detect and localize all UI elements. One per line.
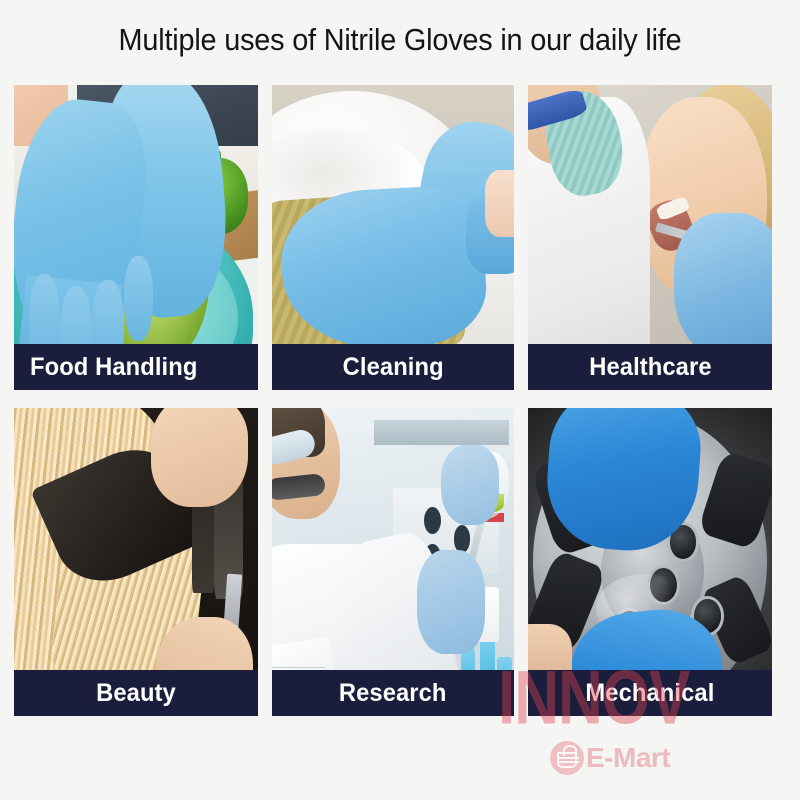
use-case-card-food-handling[interactable]: Food Handling	[14, 85, 258, 390]
card-label-research: Research	[339, 679, 447, 708]
page-title: Multiple uses of Nitrile Gloves in our d…	[28, 22, 772, 58]
use-case-card-healthcare[interactable]: Healthcare	[528, 85, 772, 390]
watermark-logo: E-Mart	[550, 741, 670, 775]
card-label-bar-food-handling: Food Handling	[14, 344, 258, 390]
use-case-card-beauty[interactable]: Beauty	[14, 408, 258, 716]
shopping-basket-icon	[550, 741, 584, 775]
card-label-bar-beauty: Beauty	[14, 670, 258, 716]
card-label-bar-research: Research	[272, 670, 514, 716]
use-case-card-cleaning[interactable]: Cleaning	[272, 85, 514, 390]
card-label-bar-mechanical: Mechanical	[528, 670, 772, 716]
watermark-brand-secondary: E-Mart	[586, 742, 670, 774]
use-case-card-mechanical[interactable]: Mechanical	[528, 408, 772, 716]
card-label-bar-cleaning: Cleaning	[272, 344, 514, 390]
card-label-healthcare: Healthcare	[589, 353, 711, 382]
card-label-beauty: Beauty	[96, 679, 176, 708]
use-case-grid: Food Handling Cleaning	[14, 85, 772, 716]
card-label-food-handling: Food Handling	[30, 353, 197, 382]
card-label-bar-healthcare: Healthcare	[528, 344, 772, 390]
card-label-cleaning: Cleaning	[342, 353, 443, 382]
card-label-mechanical: Mechanical	[586, 679, 715, 708]
use-case-card-research[interactable]: Research	[272, 408, 514, 716]
